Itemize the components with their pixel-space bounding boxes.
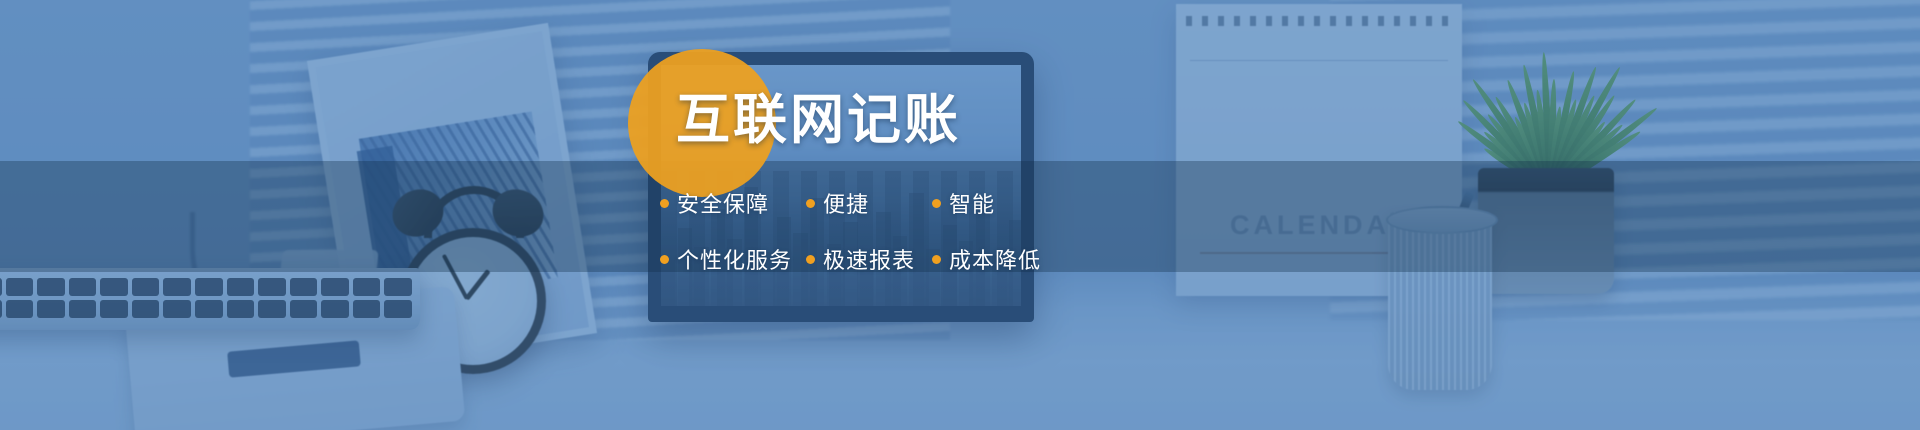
feature-list: 安全保障便捷智能个性化服务极速报表成本降低: [660, 181, 1060, 281]
feature-item[interactable]: 极速报表: [806, 243, 932, 275]
feature-item[interactable]: 个性化服务: [660, 243, 806, 275]
banner-headline: 互联网记账: [676, 93, 961, 147]
feature-label: 个性化服务: [677, 243, 792, 275]
bullet-dot-icon: [932, 255, 941, 264]
banner-content: 互联网记账 安全保障便捷智能个性化服务极速报表成本降低: [0, 0, 1920, 430]
feature-label: 智能: [949, 187, 995, 219]
bullet-dot-icon: [660, 199, 669, 208]
feature-label: 便捷: [823, 187, 869, 219]
feature-item[interactable]: 便捷: [806, 187, 932, 219]
feature-item[interactable]: 成本降低: [932, 243, 1041, 275]
bullet-dot-icon: [932, 199, 941, 208]
bullet-dot-icon: [660, 255, 669, 264]
feature-label: 安全保障: [677, 187, 769, 219]
bullet-dot-icon: [806, 255, 815, 264]
bullet-dot-icon: [806, 199, 815, 208]
feature-row: 个性化服务极速报表成本降低: [660, 237, 1060, 281]
promo-banner: CALENDAR 互联网记账 安全保障便捷智能个性化服务极速报表成本降低: [0, 0, 1920, 430]
feature-row: 安全保障便捷智能: [660, 181, 1060, 225]
feature-item[interactable]: 智能: [932, 187, 995, 219]
feature-label: 极速报表: [823, 243, 915, 275]
feature-label: 成本降低: [949, 243, 1041, 275]
feature-item[interactable]: 安全保障: [660, 187, 806, 219]
